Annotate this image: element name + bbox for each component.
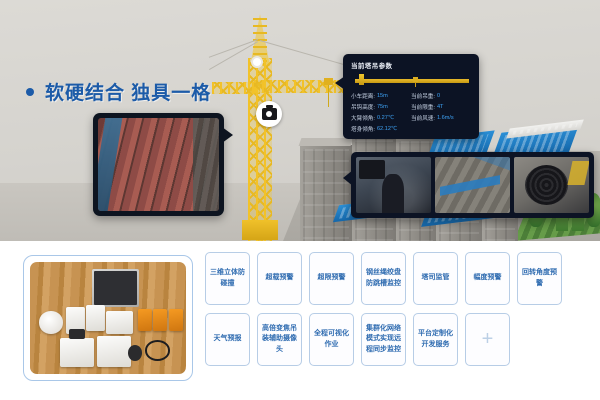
slide-canvas: 软硬结合 独具一格 当前塔吊参数 小车距离: 15m 当前吊重: 0	[0, 0, 600, 400]
feature-tag-grid: 三维立体防碰撞 超载预警 超限预警 钢丝绳绞盘防跳槽监控 塔司监管 幅度预警 回…	[205, 252, 593, 374]
feature-tag[interactable]: 回转角度预警	[517, 252, 562, 305]
white-box-device-4	[60, 338, 94, 367]
crane-counter-jib	[212, 82, 260, 94]
feature-tag[interactable]: 超限预警	[309, 252, 354, 305]
crane-camera-marker-icon[interactable]	[256, 101, 282, 127]
page-title-text: 软硬结合 独具一格	[45, 78, 211, 105]
parameter-row: 吊钩高度: 75m	[351, 103, 411, 111]
parameter-row: 大臂倾角: 0.27℃	[351, 114, 411, 122]
crane-hook-line	[328, 85, 329, 107]
parameter-label: 当前风速:	[411, 114, 435, 122]
feature-tag[interactable]: 超载预警	[257, 252, 302, 305]
parameter-value: 4T	[437, 104, 444, 110]
feature-tag[interactable]: 全程可视化作业	[309, 313, 354, 366]
crane-trolley	[324, 78, 333, 85]
cable-bundle	[128, 345, 142, 361]
hero-scene: 软硬结合 独具一格 当前塔吊参数 小车距离: 15m 当前吊重: 0	[0, 0, 600, 241]
orange-sensor-3	[169, 309, 183, 331]
dome-sensor-device	[39, 311, 62, 333]
parameter-value: 0	[437, 93, 440, 99]
monitor-device	[92, 269, 139, 307]
crane-base	[242, 220, 278, 240]
anemometer-device	[145, 340, 170, 360]
page-title: 软硬结合 独具一格	[26, 78, 211, 105]
panel-callout-pointer	[335, 76, 345, 90]
parameter-value: 62.12℃	[377, 126, 397, 132]
parameter-label: 当前吊重:	[411, 92, 435, 100]
strip-callout-pointer	[343, 170, 353, 186]
parameter-row: 小车距离: 15m	[351, 92, 411, 100]
parameter-label: 大臂倾角:	[351, 114, 375, 122]
power-adapter-device	[69, 329, 85, 339]
camera-feed-aerial-site[interactable]	[435, 157, 510, 213]
parameter-label: 塔身倾角:	[351, 125, 375, 133]
parameter-value: 75m	[377, 104, 388, 110]
crane-schematic-icon	[351, 74, 471, 87]
feature-tag[interactable]: 天气预报	[205, 313, 250, 366]
add-feature-tag-button[interactable]: +	[465, 313, 510, 366]
panel-title: 当前塔吊参数	[351, 60, 471, 70]
feature-tag[interactable]: 幅度预警	[465, 252, 510, 305]
hardware-kit-card[interactable]	[23, 255, 193, 381]
orange-sensor-1	[138, 309, 152, 331]
feature-tag[interactable]: 集群化网络模式实现远程同步监控	[361, 313, 406, 366]
orange-sensor-2	[153, 309, 167, 331]
parameter-row: 当前限重: 4T	[411, 103, 471, 111]
parameter-label: 吊钩高度:	[351, 103, 375, 111]
feature-tag[interactable]: 钢丝绳绞盘防跳槽监控	[361, 252, 406, 305]
camera-feed-cable-drum[interactable]	[514, 157, 589, 213]
camera-feed-operator-cab[interactable]	[356, 157, 431, 213]
aerial-rooftop-photo-card[interactable]	[93, 113, 224, 216]
parameter-label: 小车距离:	[351, 92, 375, 100]
parameter-rows: 小车距离: 15m 当前吊重: 0 吊钩高度: 75m 当前限重: 4T 大臂倾…	[351, 92, 471, 136]
feature-tag-row-2: 天气预报 高倍变焦吊装辅助摄像头 全程可视化作业 集群化网络模式实现远程同步监控…	[205, 313, 593, 366]
crane-parameters-panel: 当前塔吊参数 小车距离: 15m 当前吊重: 0 吊钩高度: 75m 当前	[343, 54, 479, 139]
feature-tag[interactable]: 三维立体防碰撞	[205, 252, 250, 305]
white-box-device-5	[97, 336, 131, 367]
feature-tag[interactable]: 塔司监管	[413, 252, 458, 305]
parameter-value: 0.27℃	[377, 115, 394, 121]
bottom-section: 三维立体防碰撞 超载预警 超限预警 钢丝绳绞盘防跳槽监控 塔司监管 幅度预警 回…	[0, 241, 600, 400]
feature-tag[interactable]: 平台定制化开发服务	[413, 313, 458, 366]
parameter-row: 当前吊重: 0	[411, 92, 471, 100]
hardware-kit-photo	[30, 262, 186, 374]
white-box-device-3	[106, 311, 133, 333]
parameter-label: 当前限重:	[411, 103, 435, 111]
parameter-value: 1.6m/s	[437, 115, 454, 121]
parameter-row: 塔身倾角: 62.12℃	[351, 125, 411, 133]
white-box-device-2	[86, 305, 105, 332]
crane-marker-dot-icon[interactable]	[251, 56, 263, 68]
photo-callout-pointer	[222, 127, 233, 143]
aerial-rooftop-photo	[98, 118, 219, 211]
feature-tag-row-1: 三维立体防碰撞 超载预警 超限预警 钢丝绳绞盘防跳槽监控 塔司监管 幅度预警 回…	[205, 252, 593, 305]
bullet-icon	[26, 88, 34, 96]
feature-tag[interactable]: 高倍变焦吊装辅助摄像头	[257, 313, 302, 366]
camera-feed-strip	[351, 152, 594, 218]
parameter-row: 当前风速: 1.6m/s	[411, 114, 471, 122]
parameter-value: 15m	[377, 93, 388, 99]
